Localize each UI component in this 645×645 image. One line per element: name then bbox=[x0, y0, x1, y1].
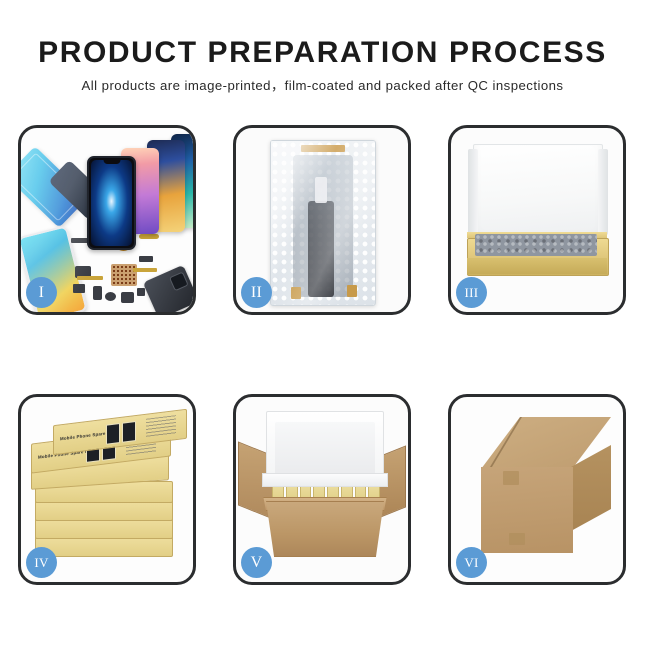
process-step-panel-1: I bbox=[18, 125, 196, 315]
flex-cable-icon bbox=[77, 276, 103, 280]
carton-tape-patch-2-icon bbox=[509, 533, 525, 545]
part-camera-icon bbox=[121, 292, 134, 303]
process-step-panel-4: Mobile Phone Spare Parts Mobile Phone Sp… bbox=[18, 394, 196, 585]
page-title: PRODUCT PREPARATION PROCESS bbox=[0, 0, 645, 70]
step-badge-6: VI bbox=[456, 547, 487, 578]
page-subtitle: All products are image-printed，film-coat… bbox=[0, 70, 645, 94]
step-badge-3: III bbox=[456, 277, 487, 308]
product-preparation-process-infographic: PRODUCT PREPARATION PROCESS All products… bbox=[0, 0, 645, 645]
carton-front-face bbox=[481, 467, 573, 553]
part-connector-icon bbox=[93, 286, 102, 300]
bubble-wrap-bag-icon bbox=[270, 140, 376, 306]
step-badge-2-label: II bbox=[251, 285, 262, 301]
step-badge-4-label: IV bbox=[34, 556, 48, 569]
step-badge-2: II bbox=[241, 277, 272, 308]
process-step-panel-6: VI bbox=[448, 394, 626, 585]
box-spec-lines bbox=[146, 415, 176, 439]
box-artwork-phone-icon bbox=[122, 421, 136, 443]
carton-front-wall-icon bbox=[258, 501, 392, 557]
process-step-grid: I II bbox=[18, 125, 627, 585]
sealed-carton-icon bbox=[465, 417, 611, 553]
stacked-boxes-group: Mobile Phone Spare Parts Mobile Phone Sp… bbox=[29, 415, 189, 565]
carton-tape-patch-icon bbox=[503, 471, 519, 485]
step-badge-3-label: III bbox=[465, 286, 479, 299]
phone-front-glass-icon bbox=[87, 156, 136, 250]
part-chip-icon bbox=[137, 288, 145, 296]
part-button-icon bbox=[105, 292, 116, 301]
header: PRODUCT PREPARATION PROCESS All products… bbox=[0, 0, 645, 94]
step-badge-1: I bbox=[26, 277, 57, 308]
process-step-panel-5: V bbox=[233, 394, 411, 585]
part-strip-icon bbox=[139, 256, 153, 262]
foam-rim-icon bbox=[262, 473, 388, 487]
process-step-panel-3: III bbox=[448, 125, 626, 315]
step-badge-6-label: VI bbox=[464, 556, 478, 569]
grey-foam-padding-icon bbox=[475, 234, 597, 256]
step-badge-1-label: I bbox=[39, 285, 45, 301]
process-step-panel-2: II bbox=[233, 125, 411, 315]
step-badge-5: V bbox=[241, 547, 272, 578]
step-badge-4: IV bbox=[26, 547, 57, 578]
flex-cable-2-icon bbox=[139, 234, 159, 239]
step-badge-5-label: V bbox=[251, 555, 263, 571]
part-small-icon bbox=[73, 284, 85, 293]
flex-cable-3-icon bbox=[133, 268, 157, 272]
box-artwork-phone-icon bbox=[106, 423, 120, 445]
white-foam-lid-icon bbox=[473, 144, 603, 244]
